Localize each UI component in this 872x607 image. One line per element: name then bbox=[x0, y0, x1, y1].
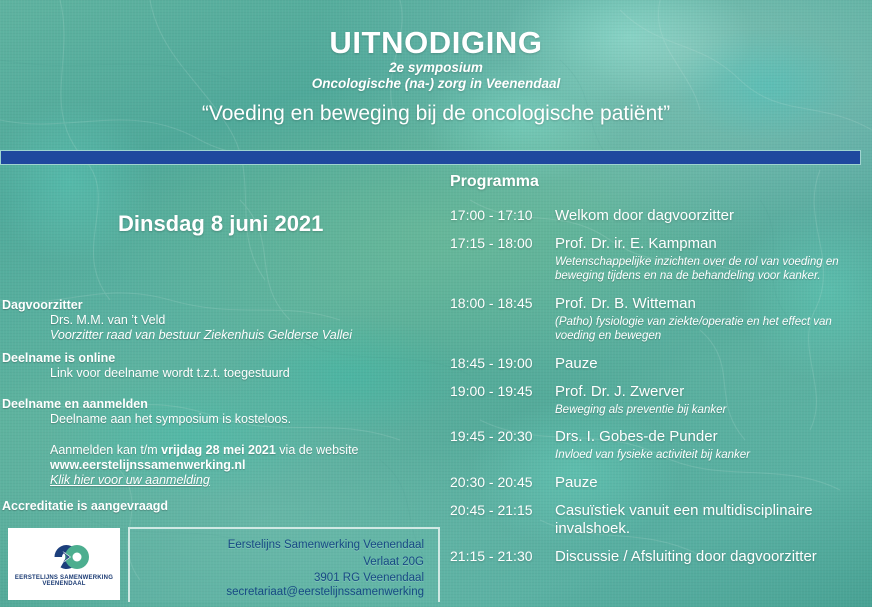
registration-link[interactable]: Klik hier voor uw aanmelding bbox=[50, 473, 210, 487]
item-title: Prof. Dr. B. Witteman bbox=[555, 295, 872, 314]
online-detail: Link voor deelname wordt t.z.t. toegestu… bbox=[0, 366, 440, 380]
logo-text-line-2: VEENENDAAL bbox=[42, 581, 85, 587]
item-body: Pauze bbox=[555, 355, 872, 374]
item-title: Pauze bbox=[555, 474, 872, 493]
info-block-online: Deelname is online Link voor deelname wo… bbox=[0, 351, 440, 380]
spacer bbox=[450, 463, 872, 474]
item-title: Prof. Dr. ir. E. Kampman bbox=[555, 235, 872, 254]
item-title: Discussie / Afsluiting door dagvoorzitte… bbox=[555, 548, 872, 567]
programma-item: 18:00 - 18:45 Prof. Dr. B. Witteman (Pat… bbox=[450, 295, 872, 344]
item-time: 20:30 - 20:45 bbox=[450, 474, 555, 492]
item-body: Prof. Dr. B. Witteman (Patho) fysiologie… bbox=[555, 295, 872, 344]
registration-cost: Deelname aan het symposium is kosteloos. bbox=[0, 412, 440, 426]
spacer bbox=[450, 539, 872, 548]
website-url[interactable]: www.eerstelijnssamenwerking.nl bbox=[0, 458, 440, 472]
blue-divider-bar bbox=[0, 150, 861, 165]
eerstelijns-samenwerking-logo-icon bbox=[31, 542, 97, 572]
chair-role: Voorzitter raad van bestuur Ziekenhuis G… bbox=[0, 328, 440, 342]
item-body: Pauze bbox=[555, 474, 872, 493]
spacer bbox=[450, 374, 872, 383]
block-heading: Deelname en aanmelden bbox=[0, 397, 440, 411]
item-time: 17:00 - 17:10 bbox=[450, 207, 555, 225]
spacer bbox=[450, 344, 872, 355]
item-body: Discussie / Afsluiting door dagvoorzitte… bbox=[555, 548, 872, 567]
spacer bbox=[450, 284, 872, 295]
item-title: Prof. Dr. J. Zwerver bbox=[555, 383, 872, 402]
deadline-prefix: Aanmelden kan t/m bbox=[50, 443, 161, 457]
item-title: Welkom door dagvoorzitter bbox=[555, 207, 872, 226]
right-column: Programma 17:00 - 17:10 Welkom door dagv… bbox=[440, 165, 872, 607]
spacer bbox=[450, 493, 872, 502]
item-body: Prof. Dr. ir. E. Kampman Wetenschappelij… bbox=[555, 235, 872, 284]
block-heading: Accreditatie is aangevraagd bbox=[0, 499, 440, 513]
programma-item: 17:15 - 18:00 Prof. Dr. ir. E. Kampman W… bbox=[450, 235, 872, 284]
programma-item: 19:45 - 20:30 Drs. I. Gobes-de Punder In… bbox=[450, 428, 872, 462]
item-body: Prof. Dr. J. Zwerver Beweging als preven… bbox=[555, 383, 872, 417]
info-block-accreditation: Accreditatie is aangevraagd bbox=[0, 499, 440, 513]
item-description: (Patho) fysiologie van ziekte/operatie e… bbox=[555, 315, 872, 344]
symposium-theme: “Voeding en beweging bij de oncologische… bbox=[0, 102, 872, 126]
item-body: Drs. I. Gobes-de Punder Invloed van fysi… bbox=[555, 428, 872, 462]
item-title: Pauze bbox=[555, 355, 872, 374]
subtitle-line-2: Oncologische (na-) zorg in Veenendaal bbox=[0, 76, 872, 91]
programma-heading: Programma bbox=[450, 173, 539, 191]
registration-link-row[interactable]: Klik hier voor uw aanmelding bbox=[0, 473, 440, 487]
event-date: Dinsdag 8 juni 2021 bbox=[118, 211, 323, 237]
item-time: 18:00 - 18:45 bbox=[450, 295, 555, 313]
spacer bbox=[0, 426, 440, 440]
organisation-logo-card: EERSTELIJNS SAMENWERKING VEENENDAAL bbox=[8, 528, 120, 600]
invitation-poster: UITNODIGING 2e symposium Oncologische (n… bbox=[0, 0, 872, 607]
block-heading: Dagvoorzitter bbox=[0, 298, 440, 312]
programma-item: 20:45 - 21:15 Casuïstiek vanuit een mult… bbox=[450, 502, 872, 540]
programma-item: 19:00 - 19:45 Prof. Dr. J. Zwerver Beweg… bbox=[450, 383, 872, 417]
poster-header: UITNODIGING 2e symposium Oncologische (n… bbox=[0, 0, 872, 150]
chair-name: Drs. M.M. van ’t Veld bbox=[0, 313, 440, 327]
contact-organisation: Eerstelijns Samenwerking Veenendaal bbox=[228, 537, 424, 554]
item-title: Casuïstiek vanuit een multidisciplinaire… bbox=[555, 502, 872, 540]
item-body: Casuïstiek vanuit een multidisciplinaire… bbox=[555, 502, 872, 540]
item-time: 21:15 - 21:30 bbox=[450, 548, 555, 566]
page-title: UITNODIGING bbox=[0, 25, 872, 61]
item-title: Drs. I. Gobes-de Punder bbox=[555, 428, 872, 447]
contact-city: 3901 RG Veenendaal bbox=[228, 570, 424, 587]
programma-item: 20:30 - 20:45 Pauze bbox=[450, 474, 872, 493]
spacer bbox=[450, 226, 872, 235]
item-time: 19:45 - 20:30 bbox=[450, 428, 555, 446]
item-time: 20:45 - 21:15 bbox=[450, 502, 555, 520]
contact-street: Verlaat 20G bbox=[228, 554, 424, 571]
registration-deadline-line: Aanmelden kan t/m vrijdag 28 mei 2021 vi… bbox=[0, 443, 440, 457]
item-body: Welkom door dagvoorzitter bbox=[555, 207, 872, 226]
programma-item: 17:00 - 17:10 Welkom door dagvoorzitter bbox=[450, 207, 872, 226]
contact-address: Eerstelijns Samenwerking Veenendaal Verl… bbox=[228, 537, 424, 587]
programma-item: 21:15 - 21:30 Discussie / Afsluiting doo… bbox=[450, 548, 872, 567]
info-block-dagvoorzitter: Dagvoorzitter Drs. M.M. van ’t Veld Voor… bbox=[0, 298, 440, 342]
block-heading: Deelname is online bbox=[0, 351, 440, 365]
deadline-suffix: via de website bbox=[276, 443, 359, 457]
item-description: Wetenschappelijke inzichten over de rol … bbox=[555, 255, 872, 284]
info-block-registration: Deelname en aanmelden Deelname aan het s… bbox=[0, 397, 440, 487]
item-description: Beweging als preventie bij kanker bbox=[555, 403, 872, 418]
contact-email[interactable]: secretariaat@eerstelijnssamenwerking bbox=[226, 586, 424, 598]
item-description: Invloed van fysieke activiteit bij kanke… bbox=[555, 448, 872, 463]
subtitle-line-1: 2e symposium bbox=[0, 60, 872, 75]
spacer bbox=[450, 417, 872, 428]
programma-item: 18:45 - 19:00 Pauze bbox=[450, 355, 872, 374]
item-time: 19:00 - 19:45 bbox=[450, 383, 555, 401]
item-time: 17:15 - 18:00 bbox=[450, 235, 555, 253]
contact-card: Eerstelijns Samenwerking Veenendaal Verl… bbox=[128, 527, 440, 602]
deadline-date: vrijdag 28 mei 2021 bbox=[161, 443, 276, 457]
item-time: 18:45 - 19:00 bbox=[450, 355, 555, 373]
programma-list: 17:00 - 17:10 Welkom door dagvoorzitter … bbox=[450, 207, 872, 567]
